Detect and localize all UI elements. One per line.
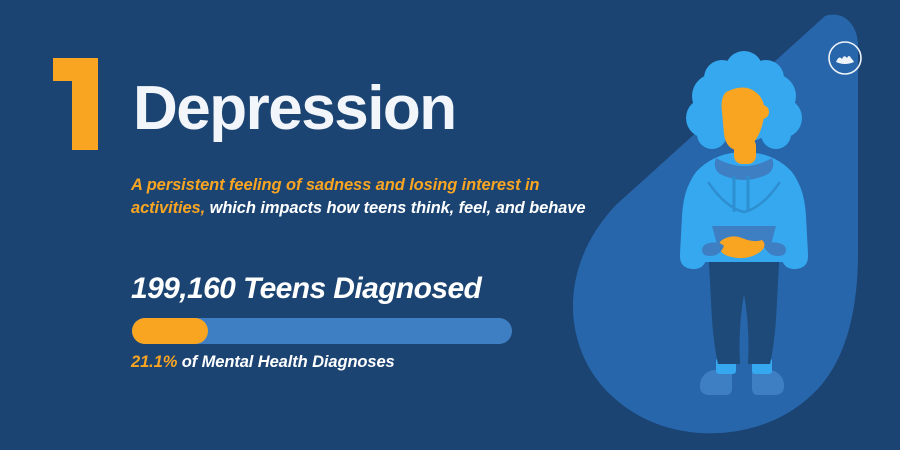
- logo-mountains-icon: [836, 56, 854, 64]
- progress-caption: 21.1% of Mental Health Diagnoses: [131, 353, 395, 373]
- ear: [755, 105, 769, 119]
- progress-caption-text: of Mental Health Diagnoses: [182, 353, 395, 371]
- numeral-stem: [72, 58, 98, 150]
- mountain-circle-logo[interactable]: [827, 40, 863, 76]
- content-column: 1 Depression A persistent feeling of sad…: [0, 0, 640, 450]
- stat-headline: 199,160 Teens Diagnosed: [131, 274, 481, 304]
- rank-numeral: [53, 58, 98, 150]
- progress-bar-track: [132, 318, 512, 344]
- description: A persistent feeling of sadness and losi…: [131, 174, 609, 221]
- description-rest: which impacts how teens think, feel, and…: [205, 199, 585, 217]
- infographic-card: 1 Depression A persistent feeling of sad…: [0, 0, 900, 450]
- percent-label: 21.1%: [131, 353, 177, 371]
- progress-bar-fill: [132, 318, 208, 344]
- page-title: Depression: [133, 78, 456, 140]
